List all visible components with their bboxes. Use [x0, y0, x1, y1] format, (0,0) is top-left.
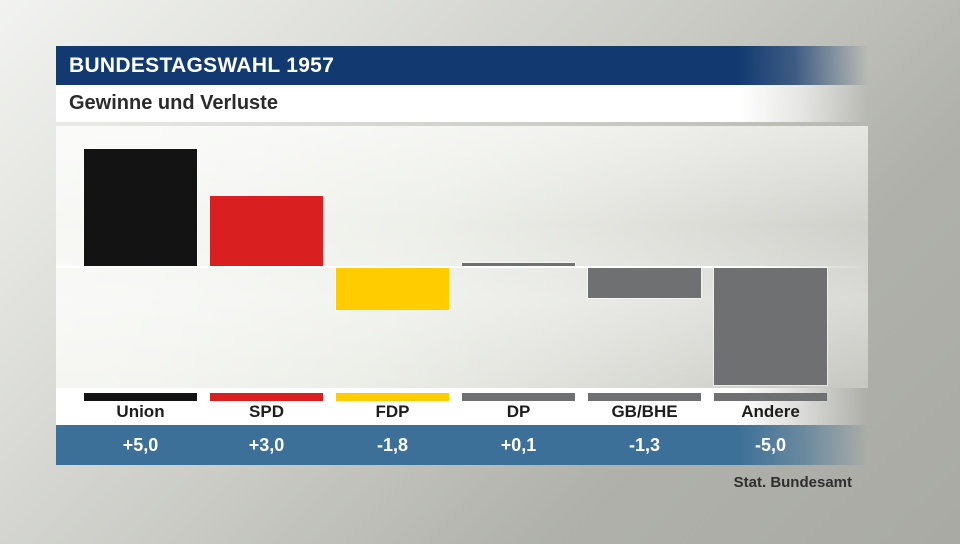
- swatch-andere: [714, 393, 827, 401]
- source-credit: Stat. Bundesamt: [56, 474, 852, 491]
- chart-screenshot: BUNDESTAGSWAHL 1957 Gewinne und Verluste…: [0, 0, 960, 544]
- bar-gb-bhe: [588, 268, 701, 298]
- page-title: BUNDESTAGSWAHL 1957: [69, 54, 334, 78]
- value-label-andere: -5,0: [714, 434, 827, 456]
- bar-andere: [714, 268, 827, 385]
- category-label-band: UnionSPDFDPDPGB/BHEAndere: [56, 388, 868, 425]
- category-label-union: Union: [84, 401, 197, 423]
- swatch-gb-bhe: [588, 393, 701, 401]
- value-label-gb-bhe: -1,3: [588, 434, 701, 456]
- bar-spd: [210, 196, 323, 266]
- category-label-gb-bhe: GB/BHE: [588, 401, 701, 423]
- category-label-andere: Andere: [714, 401, 827, 423]
- bar-union: [84, 149, 197, 266]
- title-bar: BUNDESTAGSWAHL 1957: [56, 46, 868, 85]
- page-subtitle: Gewinne und Verluste: [69, 92, 278, 115]
- swatch-spd: [210, 393, 323, 401]
- category-label-dp: DP: [462, 401, 575, 423]
- swatch-dp: [462, 393, 575, 401]
- value-label-fdp: -1,8: [336, 434, 449, 456]
- value-label-band: +5,0+3,0-1,8+0,1-1,3-5,0: [56, 425, 868, 465]
- chart-plot-area: [56, 126, 868, 388]
- value-label-dp: +0,1: [462, 434, 575, 456]
- zero-baseline: [56, 266, 868, 268]
- swatch-fdp: [336, 393, 449, 401]
- value-label-union: +5,0: [84, 434, 197, 456]
- category-label-fdp: FDP: [336, 401, 449, 423]
- subtitle-bar: Gewinne und Verluste: [56, 85, 868, 122]
- bar-fdp: [336, 268, 449, 310]
- category-label-spd: SPD: [210, 401, 323, 423]
- swatch-union: [84, 393, 197, 401]
- value-label-spd: +3,0: [210, 434, 323, 456]
